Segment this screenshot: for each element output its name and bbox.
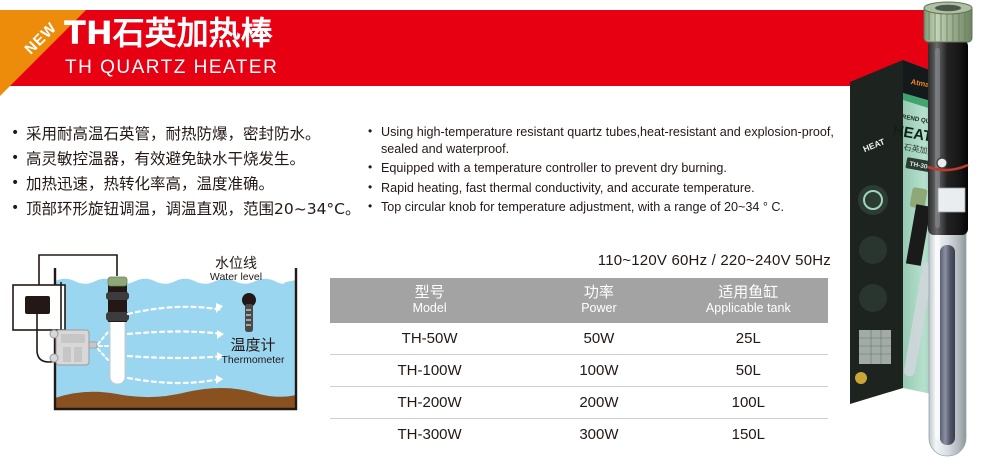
table-row: TH-50W 50W 25L — [330, 323, 828, 355]
thermometer-stem — [245, 304, 253, 332]
feature-item-en: Using high-temperature resistant quartz … — [368, 124, 838, 157]
product-spec-label — [938, 188, 965, 212]
table-row: TH-200W 200W 100L — [330, 387, 828, 419]
pump-outlet — [89, 342, 97, 348]
table-header-row: 型号 Model 功率 Power 适用鱼缸 Applicable tank — [330, 278, 828, 323]
header-label-cn: 功率 — [529, 283, 668, 301]
cell-power: 200W — [529, 387, 668, 419]
header-label-en: Power — [529, 301, 668, 316]
feature-item-cn: 顶部环形旋钮调温，调温直观，范围20~34°C。 — [10, 197, 360, 222]
knob-top-recess — [935, 5, 961, 11]
cell-tank: 100L — [669, 387, 828, 419]
thermometer-label-cn: 温度计 — [230, 336, 275, 354]
cell-power: 100W — [529, 355, 668, 387]
heater-rod-product — [924, 2, 972, 456]
pump-slot-a — [63, 347, 71, 362]
socket-plug-icon — [25, 296, 50, 314]
heater-ring-upper — [106, 292, 129, 300]
cell-model: TH-100W — [330, 355, 529, 387]
features-list-en: Using high-temperature resistant quartz … — [368, 124, 838, 219]
table-header-tank: 适用鱼缸 Applicable tank — [669, 278, 828, 323]
features-list-cn: 采用耐高温石英管，耐热防爆，密封防水。 高灵敏控温器，有效避免缺水干烧发生。 加… — [10, 122, 360, 222]
feature-item-en: Top circular knob for temperature adjust… — [368, 199, 838, 216]
heater-ring-lower — [106, 312, 129, 321]
indicator-dot — [937, 158, 947, 168]
product-photo-group: Atman TREND QUARTZ HEATER 石英加热棒 TH-300W … — [845, 0, 1000, 468]
feature-item-cn: 采用耐高温石英管，耐热防爆，密封防水。 — [10, 122, 360, 147]
feature-item-en: Rapid heating, fast thermal conductivity… — [368, 180, 838, 197]
water-level-label-cn: 水位线 — [215, 256, 257, 272]
header-label-en: Model — [330, 301, 529, 316]
page-title: TH石英加热棒 — [64, 17, 273, 49]
table-row: TH-300W 300W 150L — [330, 419, 828, 451]
pump-suction-cup-top — [50, 330, 58, 338]
cell-model: TH-50W — [330, 323, 529, 355]
spec-table: 型号 Model 功率 Power 适用鱼缸 Applicable tank T… — [330, 278, 828, 450]
heater-knob — [108, 277, 127, 286]
pump-suction-cup-bottom — [50, 354, 58, 362]
cell-tank: 50L — [669, 355, 828, 387]
pump-grill-top — [61, 334, 85, 343]
pump-slot-b — [74, 347, 82, 362]
feature-item-cn: 加热迅速，热转化率高，温度准确。 — [10, 172, 360, 197]
table-row: TH-100W 100W 50L — [330, 355, 828, 387]
thermometer-label-en: Thermometer — [221, 354, 285, 366]
feature-item-en: Equipped with a temperature controller t… — [368, 160, 838, 177]
feature-item-cn: 高灵敏控温器，有效避免缺水干烧发生。 — [10, 147, 360, 172]
table-header-power: 功率 Power — [529, 278, 668, 323]
cell-power: 300W — [529, 419, 668, 451]
cell-model: TH-300W — [330, 419, 529, 451]
heater-core — [940, 245, 955, 445]
page-subtitle: TH QUARTZ HEATER — [65, 58, 278, 77]
table-header-model: 型号 Model — [330, 278, 529, 323]
water-level-label-en: Water level — [210, 271, 262, 283]
header-label-en: Applicable tank — [669, 301, 828, 316]
cell-tank: 25L — [669, 323, 828, 355]
aquarium-diagram: 水位线 Water level 温度计 Thermometer — [6, 252, 326, 432]
cell-model: TH-200W — [330, 387, 529, 419]
header-label-cn: 适用鱼缸 — [669, 283, 828, 301]
header-label-cn: 型号 — [330, 283, 529, 301]
cell-power: 50W — [529, 323, 668, 355]
cell-tank: 150L — [669, 419, 828, 451]
